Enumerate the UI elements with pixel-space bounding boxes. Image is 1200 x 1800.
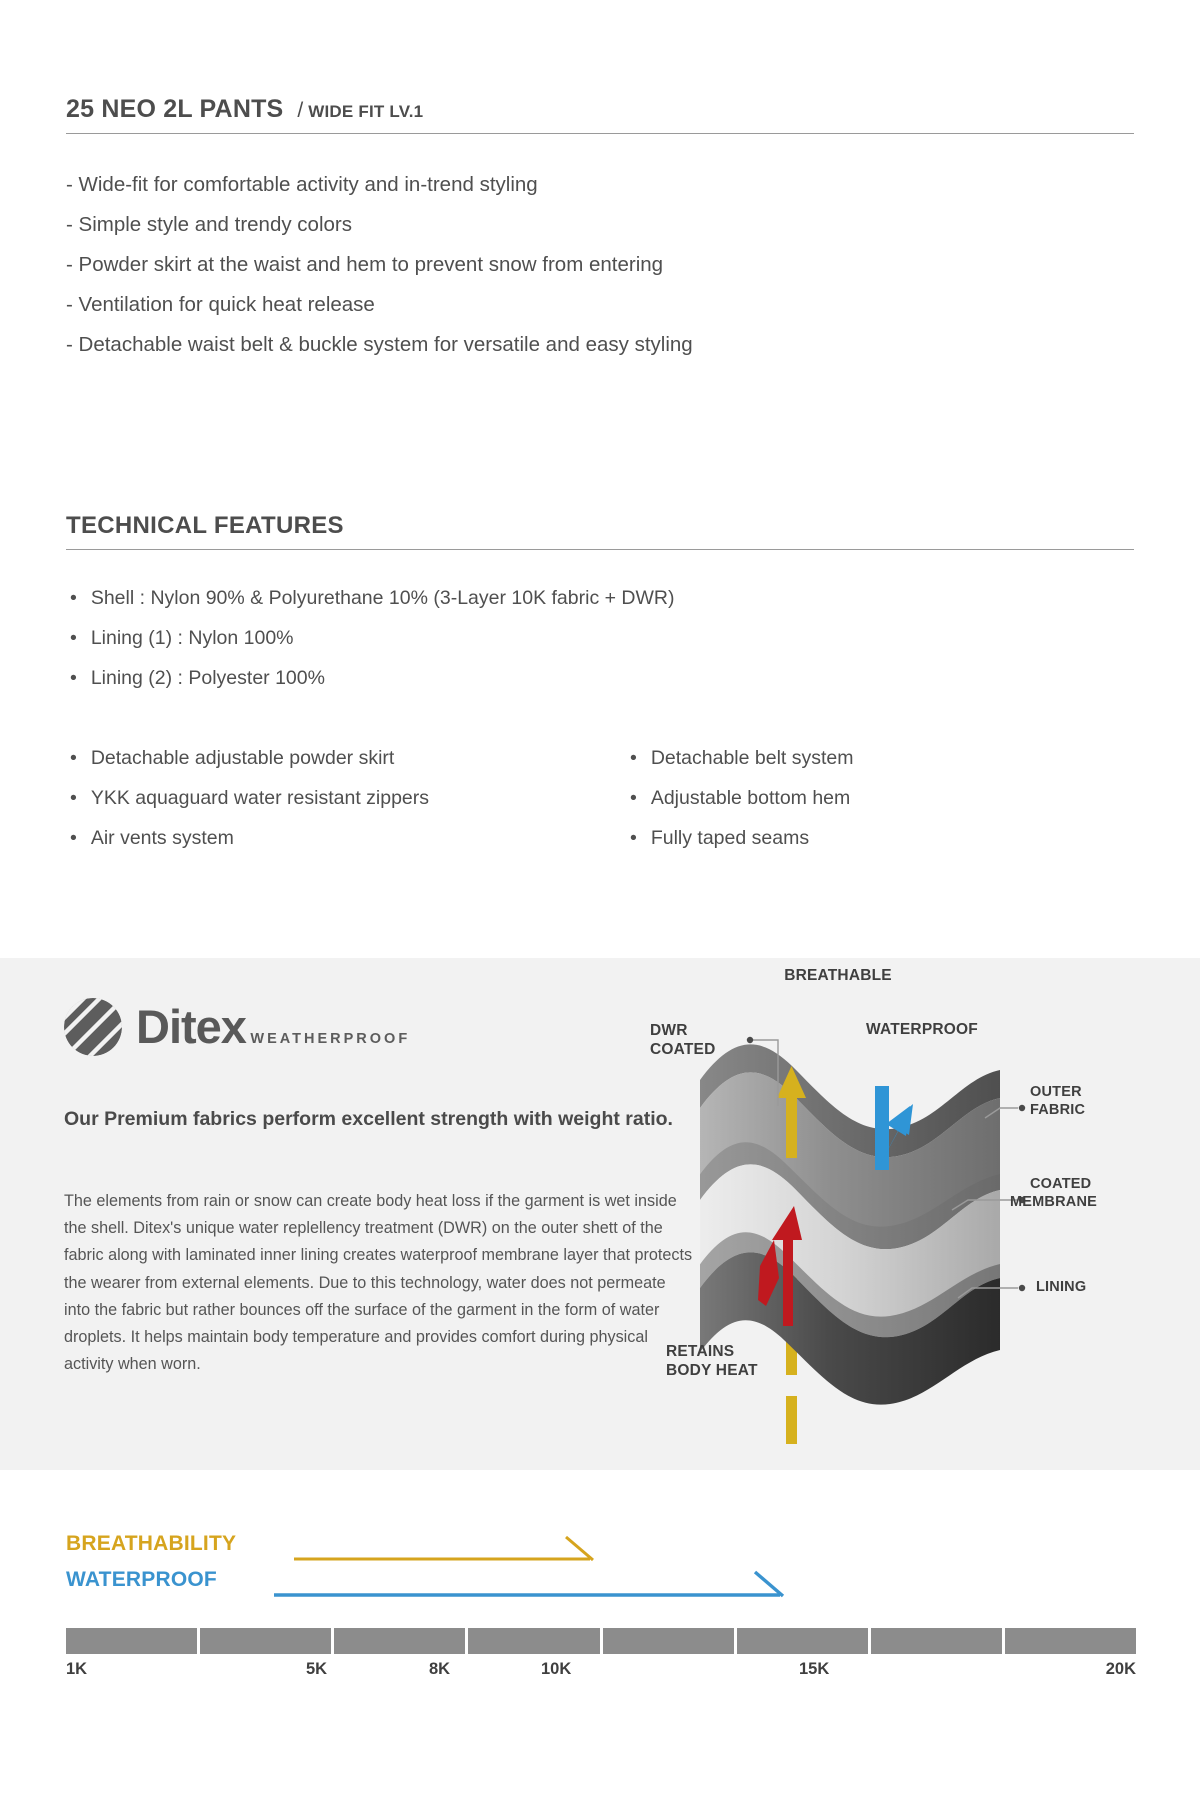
legend-label-breathability: BREATHABILITY <box>66 1532 236 1556</box>
scale-legend: BREATHABILITY WATERPROOF <box>66 1532 1136 1604</box>
feature-bullet-list: - Wide-fit for comfortable activity and … <box>66 165 1126 365</box>
legend-row-waterproof: WATERPROOF <box>66 1568 1136 1604</box>
waterproof-range-arrow-icon <box>274 1568 786 1604</box>
list-item-label: Lining (2) : Polyester 100% <box>91 667 325 689</box>
title-separator: / <box>297 99 303 123</box>
list-item-label: Detachable belt system <box>651 747 854 769</box>
list-item: •Lining (2) : Polyester 100% <box>70 658 1070 698</box>
scale-segment <box>66 1628 197 1654</box>
ditex-logo: Ditex WEATHERPROOF <box>64 998 410 1056</box>
materials-list: •Shell : Nylon 90% & Polyurethane 10% (3… <box>70 578 1070 698</box>
tick-label: 1K <box>66 1660 87 1679</box>
scale-segment <box>334 1628 465 1654</box>
scale-segment <box>871 1628 1002 1654</box>
product-fit-label: WIDE FIT LV.1 <box>308 102 423 122</box>
list-item-label: Adjustable bottom hem <box>651 787 850 809</box>
list-item: •Fully taped seams <box>630 818 1110 858</box>
scale-segment <box>737 1628 868 1654</box>
ditex-body-text: The elements from rain or snow can creat… <box>64 1188 694 1378</box>
tick-label: 15K <box>799 1660 829 1679</box>
technical-features-left: •Detachable adjustable powder skirt •YKK… <box>70 738 630 858</box>
technical-features-right: •Detachable belt system •Adjustable bott… <box>630 738 1110 858</box>
list-item: - Wide-fit for comfortable activity and … <box>66 165 1126 205</box>
scale-segment <box>1005 1628 1136 1654</box>
label-dwr-coated-line2: COATED <box>650 1040 716 1059</box>
label-coated-membrane-line2: MEMBRANE <box>1010 1193 1097 1212</box>
performance-scale-chart: BREATHABILITY WATERPROOF <box>0 1500 1200 1700</box>
list-item-label: Detachable adjustable powder skirt <box>91 747 395 769</box>
list-item: •YKK aquaguard water resistant zippers <box>70 778 630 818</box>
legend-label-waterproof: WATERPROOF <box>66 1568 217 1592</box>
scale-segment <box>468 1628 599 1654</box>
brand-tagline: WEATHERPROOF <box>250 1031 410 1047</box>
scale-segment <box>200 1628 331 1654</box>
list-item: - Ventilation for quick heat release <box>66 285 1126 325</box>
technical-features-header: TECHNICAL FEATURES <box>66 512 1134 550</box>
fabric-layers-diagram: BREATHABLE DWR COATED WATERPROOF OUTER F… <box>700 978 1170 1448</box>
list-item: •Air vents system <box>70 818 630 858</box>
list-item: •Shell : Nylon 90% & Polyurethane 10% (3… <box>70 578 1070 618</box>
ditex-lead-text: Our Premium fabrics perform excellent st… <box>64 1104 684 1134</box>
ditex-panel: Ditex WEATHERPROOF Our Premium fabrics p… <box>0 958 1200 1470</box>
list-item-label: Lining (1) : Nylon 100% <box>91 627 294 649</box>
list-item: - Powder skirt at the waist and hem to p… <box>66 245 1126 285</box>
label-waterproof: WATERPROOF <box>866 1020 978 1039</box>
brand-name: Ditex <box>136 1000 246 1053</box>
tick-label: 5K <box>306 1660 327 1679</box>
legend-row-breathability: BREATHABILITY <box>66 1532 1136 1568</box>
breathability-range-arrow-icon <box>294 1532 596 1568</box>
label-retains-line2: BODY HEAT <box>666 1361 758 1380</box>
scale-bar <box>66 1628 1136 1654</box>
label-coated-membrane-line1: COATED <box>1030 1175 1091 1194</box>
product-spec-page: 25 NEO 2L PANTS / WIDE FIT LV.1 - Wide-f… <box>0 0 1200 1800</box>
list-item-label: Shell : Nylon 90% & Polyurethane 10% (3-… <box>91 587 675 609</box>
page-title: 25 NEO 2L PANTS / WIDE FIT LV.1 <box>66 95 1134 134</box>
list-item-label: Air vents system <box>91 827 234 849</box>
label-outer-fabric-line2: FABRIC <box>1030 1101 1085 1120</box>
label-lining: LINING <box>1036 1278 1086 1297</box>
section-heading: TECHNICAL FEATURES <box>66 512 344 539</box>
product-name: 25 NEO 2L PANTS <box>66 95 283 124</box>
technical-feature-columns: •Detachable adjustable powder skirt •YKK… <box>70 738 1130 858</box>
tick-label: 8K <box>429 1660 450 1679</box>
label-outer-fabric-line1: OUTER <box>1030 1083 1082 1102</box>
list-item: •Detachable adjustable powder skirt <box>70 738 630 778</box>
scale-tick-labels: 1K 5K 8K 10K 15K 20K <box>66 1660 1136 1684</box>
label-breathable: BREATHABLE <box>748 966 928 985</box>
tick-label: 10K <box>541 1660 571 1679</box>
label-retains-line1: RETAINS <box>666 1342 734 1361</box>
scale-segment <box>603 1628 734 1654</box>
tick-label: 20K <box>1106 1660 1136 1679</box>
list-item: •Detachable belt system <box>630 738 1110 778</box>
list-item-label: Fully taped seams <box>651 827 809 849</box>
ditex-logo-text: Ditex WEATHERPROOF <box>136 1004 410 1050</box>
label-dwr-coated-line1: DWR <box>650 1021 688 1040</box>
list-item: - Simple style and trendy colors <box>66 205 1126 245</box>
ditex-logo-icon <box>64 998 122 1056</box>
list-item: •Lining (1) : Nylon 100% <box>70 618 1070 658</box>
list-item: - Detachable waist belt & buckle system … <box>66 325 1126 365</box>
list-item: •Adjustable bottom hem <box>630 778 1110 818</box>
list-item-label: YKK aquaguard water resistant zippers <box>91 787 429 809</box>
